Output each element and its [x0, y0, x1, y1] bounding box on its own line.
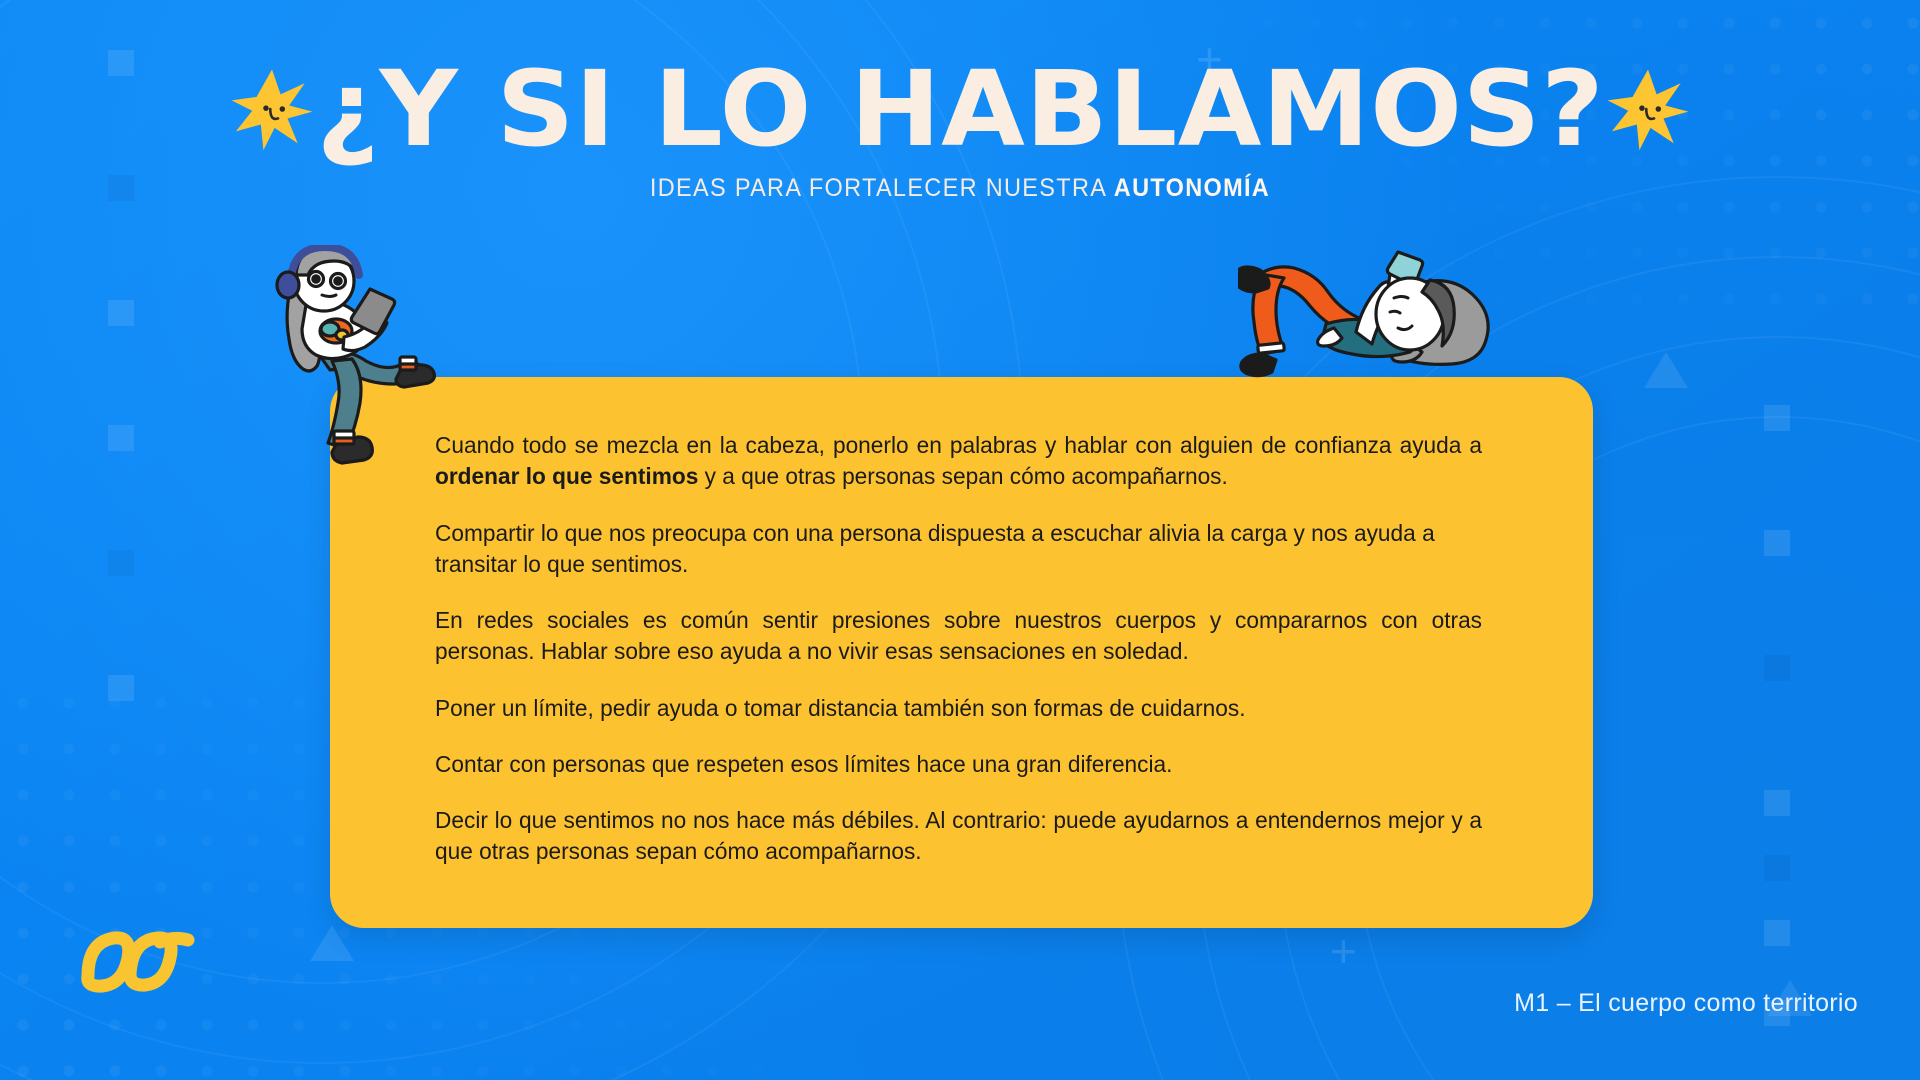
star-smiley-icon [229, 66, 315, 152]
paragraph-text: En redes sociales es común sentir presio… [435, 607, 1482, 664]
card-paragraph: Decir lo que sentimos no nos hace más dé… [435, 805, 1482, 868]
header: ¿Y SI LO HABLAMOS? IDEAS PARA FORTALECER… [0, 56, 1920, 203]
square-decoration [1764, 855, 1790, 881]
card-text-container: Cuando todo se mezcla en la cabeza, pone… [435, 430, 1520, 868]
page-subtitle: IDEAS PARA FORTALECER NUESTRA AUTONOMÍA [58, 174, 1863, 203]
slide-canvas: + + ¿Y SI LO HABLAMOS? IDEAS PARA FORTAL… [0, 0, 1920, 1080]
card-paragraph: Cuando todo se mezcla en la cabeza, pone… [435, 430, 1482, 493]
person-with-headphones-phone-illustration [258, 245, 468, 475]
triangle-decoration [1644, 352, 1688, 388]
title-row: ¿Y SI LO HABLAMOS? [0, 56, 1920, 162]
plus-decoration: + [1330, 928, 1357, 974]
subtitle-bold: AUTONOMÍA [1114, 174, 1270, 202]
person-lying-down-phone-illustration [1238, 236, 1518, 386]
footer-label: M1 – El cuerpo como territorio [1514, 989, 1858, 1018]
square-decoration [1764, 920, 1790, 946]
card-paragraph: Compartir lo que nos preocupa con una pe… [435, 518, 1482, 581]
star-smiley-icon [1605, 66, 1691, 152]
square-decoration [108, 550, 134, 576]
card-paragraph: En redes sociales es común sentir presio… [435, 605, 1482, 668]
square-decoration [108, 300, 134, 326]
paragraph-text: Decir lo que sentimos no nos hace más dé… [435, 807, 1482, 864]
square-decoration [1764, 790, 1790, 816]
paragraph-text: Contar con personas que respeten esos lí… [435, 751, 1172, 777]
paragraph-text: Poner un límite, pedir ayuda o tomar dis… [435, 695, 1246, 721]
square-decoration [1764, 530, 1790, 556]
squiggle-loop-logo [78, 924, 198, 1002]
paragraph-text: y a que otras personas sepan cómo acompa… [698, 463, 1227, 489]
paragraph-emphasis: ordenar lo que sentimos [435, 463, 698, 489]
triangle-decoration [310, 925, 354, 961]
square-decoration [1764, 655, 1790, 681]
subtitle-normal: IDEAS PARA FORTALECER NUESTRA [650, 174, 1114, 202]
paragraph-text: Cuando todo se mezcla en la cabeza, pone… [435, 432, 1482, 458]
page-title: ¿Y SI LO HABLAMOS? [316, 56, 1604, 162]
square-decoration [1764, 405, 1790, 431]
card-paragraph: Poner un límite, pedir ayuda o tomar dis… [435, 693, 1482, 724]
paragraph-text: Compartir lo que nos preocupa con una pe… [435, 520, 1435, 577]
card-paragraph: Contar con personas que respeten esos lí… [435, 749, 1482, 780]
square-decoration [108, 675, 134, 701]
square-decoration [108, 425, 134, 451]
